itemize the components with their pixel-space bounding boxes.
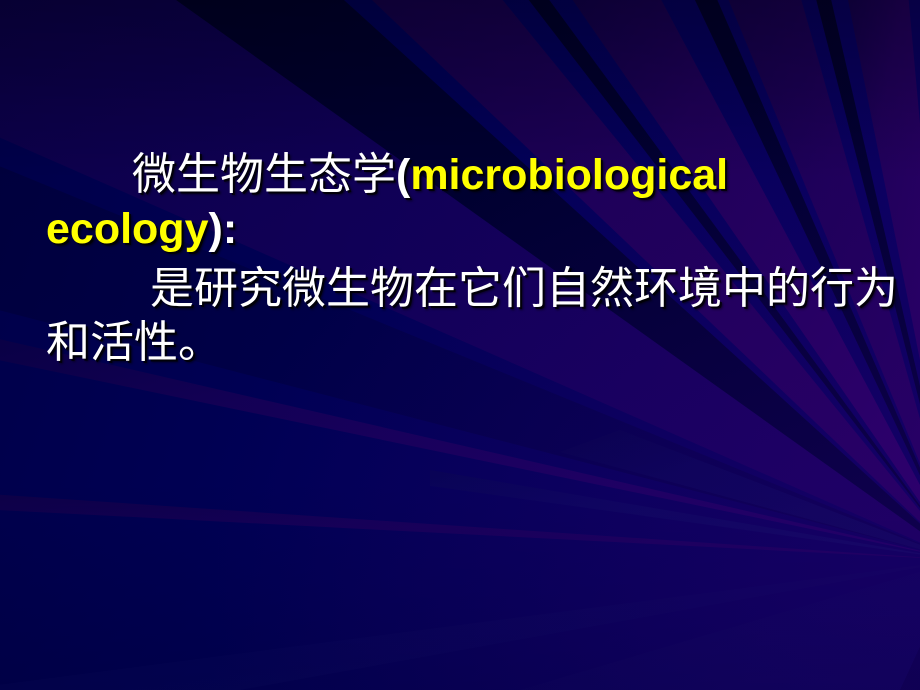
term-close-paren-colon: ): xyxy=(209,205,238,253)
paragraph-definition-body: 是研究微生物在它们自然环境中的行为和活性。 xyxy=(46,262,898,370)
paragraph-definition-term: 微生物生态学(microbiological ecology): xyxy=(46,148,898,256)
definition-chinese: 是研究微生物在它们自然环境中的行为和活性。 xyxy=(46,263,898,368)
term-chinese: 微生物生态学 xyxy=(132,149,396,200)
term-open-paren: ( xyxy=(396,151,410,199)
slide-text-block: 微生物生态学(microbiological ecology): 是研究微生物在… xyxy=(46,148,898,370)
presentation-slide: 微生物生态学(microbiological ecology): 是研究微生物在… xyxy=(0,0,920,690)
